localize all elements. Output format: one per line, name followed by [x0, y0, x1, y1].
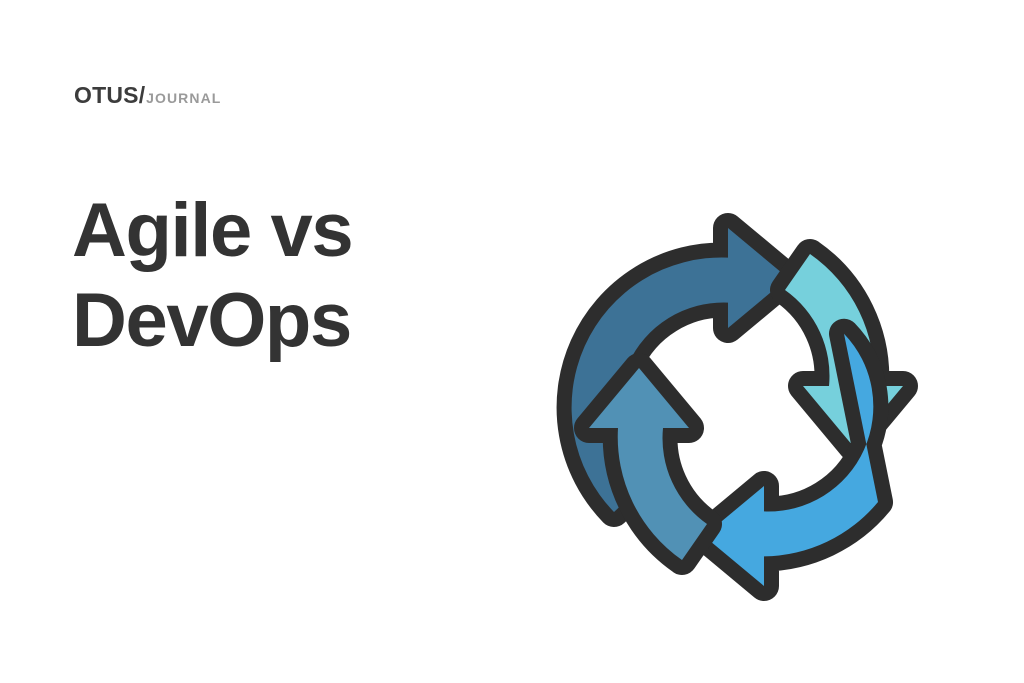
- brand-slash: /: [139, 84, 145, 107]
- brand-name: OTUS: [74, 84, 139, 107]
- page-title-line-1: Agile vs: [72, 186, 502, 276]
- brand-subname: JOURNAL: [146, 91, 221, 105]
- brand-logo: OTUS/JOURNAL: [74, 84, 221, 107]
- page-title-line-2: DevOps: [72, 276, 502, 366]
- cycle-arrow-bottom-right: [704, 334, 878, 586]
- cycle-diagram: [520, 180, 970, 630]
- slide-canvas: OTUS/JOURNAL Agile vs DevOps: [0, 0, 1024, 683]
- cycle-arrow-bottom-left: [589, 368, 707, 560]
- page-title: Agile vs DevOps: [72, 186, 502, 365]
